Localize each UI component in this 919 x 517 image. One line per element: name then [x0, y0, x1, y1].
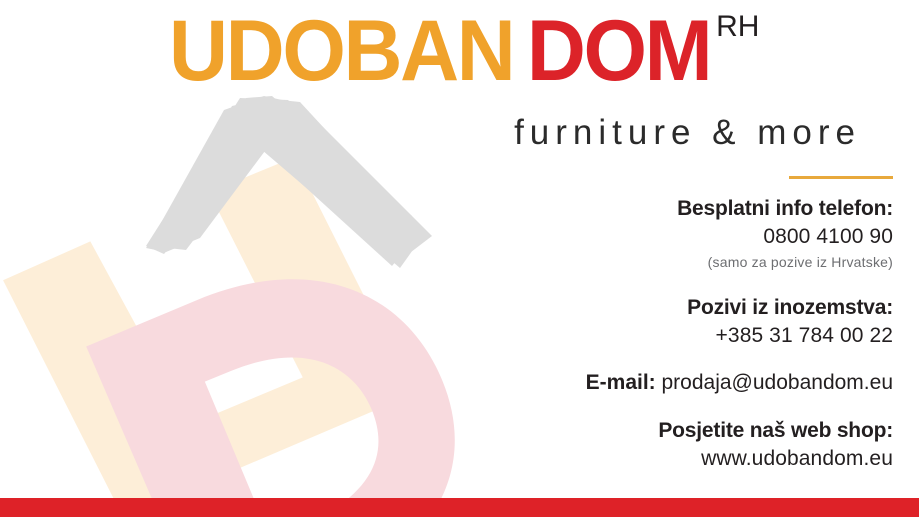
logo-superscript-rh: RH: [716, 10, 759, 44]
email-label: E-mail:: [586, 371, 656, 394]
webshop-label: Posjetite naš web shop:: [193, 418, 893, 445]
divider-rule: [789, 176, 893, 179]
intl-phone-value: +385 31 784 00 22: [193, 322, 893, 349]
bottom-accent-bar: [0, 498, 919, 517]
contact-block: Besplatni info telefon: 0800 4100 90 (sa…: [193, 196, 893, 472]
logo-wordmark: UDOBANDOMRH: [0, 8, 919, 94]
email-value[interactable]: prodaja@udobandom.eu: [662, 371, 894, 394]
business-card: UDOBANDOMRH furniture & more Besplatni i…: [0, 0, 919, 517]
email-line: E-mail: prodaja@udobandom.eu: [193, 369, 893, 396]
free-phone-label: Besplatni info telefon:: [193, 196, 893, 223]
tagline: furniture & more: [514, 113, 861, 153]
webshop-value[interactable]: www.udobandom.eu: [193, 445, 893, 472]
intl-phone-label: Pozivi iz inozemstva:: [193, 295, 893, 322]
logo-text-udoban: UDOBAN: [169, 8, 513, 94]
free-phone-note: (samo za pozive iz Hrvatske): [193, 253, 893, 273]
logo-text-dom: DOM: [527, 8, 710, 94]
free-phone-value: 0800 4100 90: [193, 223, 893, 250]
